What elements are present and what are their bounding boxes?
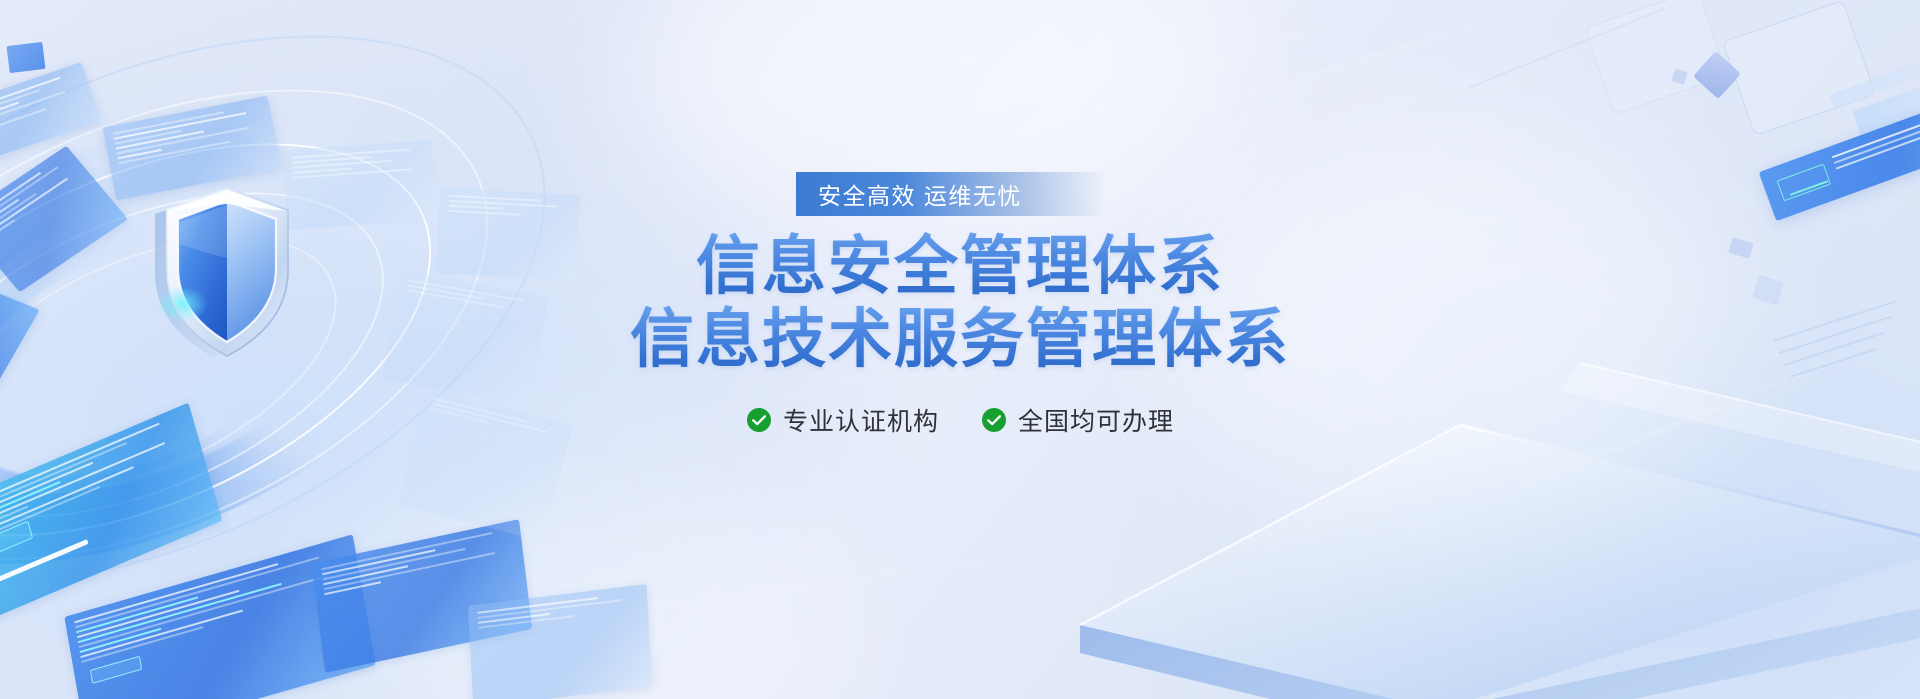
feature-item-professional-certification: 专业认证机构 bbox=[746, 402, 939, 438]
feature-item-nationwide-service: 全国均可办理 bbox=[981, 402, 1174, 438]
feature-label: 专业认证机构 bbox=[783, 402, 939, 438]
eyebrow-badge: 安全高效 运维无忧 bbox=[796, 172, 1106, 216]
headline-line-2: 信息技术服务管理体系 bbox=[630, 303, 1290, 376]
check-circle-icon bbox=[746, 407, 772, 433]
check-circle-icon bbox=[981, 407, 1007, 433]
eyebrow-text: 安全高效 运维无忧 bbox=[818, 177, 1022, 211]
feature-list: 专业认证机构 全国均可办理 bbox=[746, 402, 1174, 438]
headline-line-1: 信息安全管理体系 bbox=[630, 230, 1290, 303]
banner-content: 安全高效 运维无忧 信息安全管理体系 信息技术服务管理体系 专业认证机构 bbox=[0, 0, 1920, 699]
hero-banner: 安全高效 运维无忧 信息安全管理体系 信息技术服务管理体系 专业认证机构 bbox=[0, 0, 1920, 699]
feature-label: 全国均可办理 bbox=[1018, 402, 1174, 438]
page-title: 信息安全管理体系 信息技术服务管理体系 bbox=[630, 230, 1290, 376]
